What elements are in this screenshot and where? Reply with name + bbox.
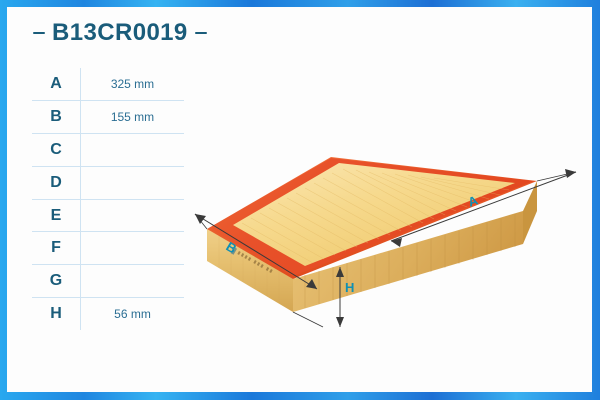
row-value: 325 mm: [81, 68, 185, 101]
row-key: B: [32, 101, 81, 134]
row-value: [81, 199, 185, 232]
dimension-label-h: H: [345, 280, 354, 295]
title-dash-right: [195, 32, 207, 35]
row-key: C: [32, 134, 81, 167]
row-value: 155 mm: [81, 101, 185, 134]
row-key: F: [32, 232, 81, 265]
image-frame: B13CR0019 A 325 mm B 155 mm C D E: [0, 0, 600, 400]
content-area: B13CR0019 A 325 mm B 155 mm C D E: [7, 7, 592, 392]
row-key: G: [32, 265, 81, 298]
filter-right-end-wall: [523, 181, 537, 244]
table-row: E: [32, 199, 184, 232]
row-key: A: [32, 68, 81, 101]
row-key: H: [32, 298, 81, 331]
title-dash-left: [33, 32, 45, 35]
page-title: B13CR0019: [33, 21, 207, 45]
table-row: A 325 mm: [32, 68, 184, 101]
row-value: [81, 232, 185, 265]
table-row: B 155 mm: [32, 101, 184, 134]
part-number: B13CR0019: [52, 21, 188, 45]
table-row: C: [32, 134, 184, 167]
table-row: G: [32, 265, 184, 298]
row-value: [81, 265, 185, 298]
specification-table: A 325 mm B 155 mm C D E F: [32, 68, 184, 330]
table-row: H 56 mm: [32, 298, 184, 331]
row-value: [81, 166, 185, 199]
row-key: D: [32, 166, 81, 199]
table-row: F: [32, 232, 184, 265]
row-value: [81, 134, 185, 167]
table-row: D: [32, 166, 184, 199]
row-value: 56 mm: [81, 298, 185, 331]
row-key: E: [32, 199, 81, 232]
product-illustration: A B H: [193, 59, 591, 359]
